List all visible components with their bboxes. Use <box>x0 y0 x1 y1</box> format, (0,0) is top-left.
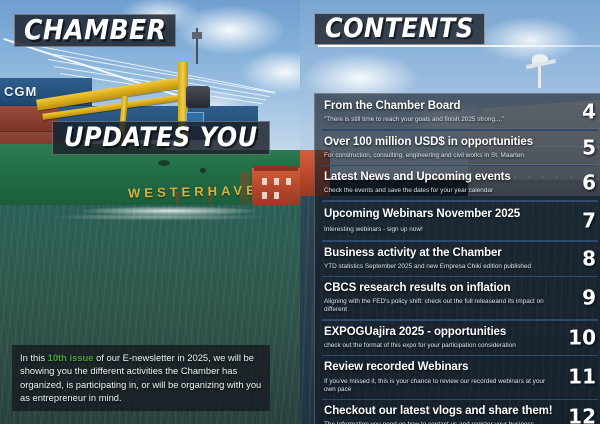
toc-entry[interactable]: Latest News and Upcoming events Check th… <box>314 166 600 200</box>
toc-entry-page: 12 <box>568 407 596 424</box>
toc-entry-page: 11 <box>568 367 596 387</box>
newsletter-cover: CGM WESTERHAVEN <box>0 0 600 424</box>
contents-header-rule <box>318 45 600 47</box>
toc-entry-title: Review recorded Webinars <box>324 361 554 375</box>
building-window <box>262 192 267 199</box>
building-window <box>286 178 291 185</box>
crane-machinery <box>186 86 210 108</box>
toc-entry[interactable]: EXPOGUajira 2025 - opportunities check o… <box>314 321 600 355</box>
toc-entry-title: Over 100 million USD$ in opportunities <box>324 136 554 150</box>
hull-porthole <box>158 160 170 166</box>
toc-entry-page: 10 <box>568 328 596 348</box>
header-contents: CONTENTS <box>314 13 485 45</box>
toc-entry-subtitle: check out the format of this expo for yo… <box>324 342 554 350</box>
toc-entry-title: Checkout our latest vlogs and share them… <box>324 405 554 419</box>
toc-entry-subtitle: For construction, consulting, engineerin… <box>324 152 554 160</box>
toc-entry[interactable]: Upcoming Webinars November 2025 Interest… <box>314 202 600 241</box>
building-window <box>274 192 279 199</box>
toc-entry-subtitle: Aligning with the FED's policy shift: ch… <box>324 298 554 314</box>
toc-entry-title: Upcoming Webinars November 2025 <box>324 208 554 222</box>
toc-entry-subtitle: Check the events and save the dates for … <box>324 187 554 195</box>
toc-entry-subtitle: Interesting webinars - sign up now! <box>324 226 554 234</box>
shoreline-buildings <box>252 168 300 208</box>
building-roof <box>254 166 298 171</box>
header-contents-text: CONTENTS <box>325 15 474 42</box>
toc-entry-title: CBCS research results on inflation <box>324 282 554 296</box>
container-label-cgm: CGM <box>4 84 37 99</box>
toc-entry[interactable]: From the Chamber Board "There is still t… <box>314 95 600 129</box>
hull-anchor-mark <box>200 168 206 173</box>
table-of-contents: From the Chamber Board "There is still t… <box>314 95 600 424</box>
toc-entry-title: Business activity at the Chamber <box>324 247 554 261</box>
header-updates-text: UPDATES YOU <box>64 124 258 151</box>
toc-entry-subtitle: If you've missed it, this is your chance… <box>324 378 554 394</box>
intro-text-box: In this 10th issue of our E-newsletter i… <box>12 345 270 411</box>
building-window <box>274 178 279 185</box>
toc-entry-page: 5 <box>582 137 596 157</box>
header-chamber: CHAMBER <box>14 14 176 47</box>
toc-entry-title: Latest News and Upcoming events <box>324 171 554 185</box>
header-updates-you: UPDATES YOU <box>52 121 270 155</box>
toc-entry-page: 6 <box>582 173 596 193</box>
intro-paragraph: In this 10th issue of our E-newsletter i… <box>20 351 262 404</box>
radar-box <box>192 32 202 39</box>
intro-part-one: In this <box>20 352 48 363</box>
toc-entry-title: From the Chamber Board <box>324 100 554 114</box>
toc-entry-title: EXPOGUajira 2025 - opportunities <box>324 326 554 340</box>
intro-highlight-issue: 10th issue <box>48 352 94 363</box>
toc-entry[interactable]: Over 100 million USD$ in opportunities F… <box>314 131 600 165</box>
toc-entry-subtitle: YTD statistics September 2025 and new Em… <box>324 263 554 271</box>
wake-foam <box>0 212 300 222</box>
toc-entry-page: 9 <box>582 288 596 308</box>
toc-entry-page: 4 <box>582 102 596 122</box>
building-window <box>262 178 267 185</box>
toc-entry-subtitle: "There is still time to reach your goals… <box>324 116 554 124</box>
header-chamber-text: CHAMBER <box>24 16 166 44</box>
toc-entry-page: 8 <box>582 248 596 268</box>
toc-entry[interactable]: Review recorded Webinars If you've misse… <box>314 356 600 398</box>
toc-entry[interactable]: CBCS research results on inflation Align… <box>314 277 600 319</box>
toc-entry-page: 7 <box>582 211 596 231</box>
toc-entry[interactable]: Checkout our latest vlogs and share them… <box>314 400 600 424</box>
toc-entry[interactable]: Business activity at the Chamber YTD sta… <box>314 242 600 276</box>
